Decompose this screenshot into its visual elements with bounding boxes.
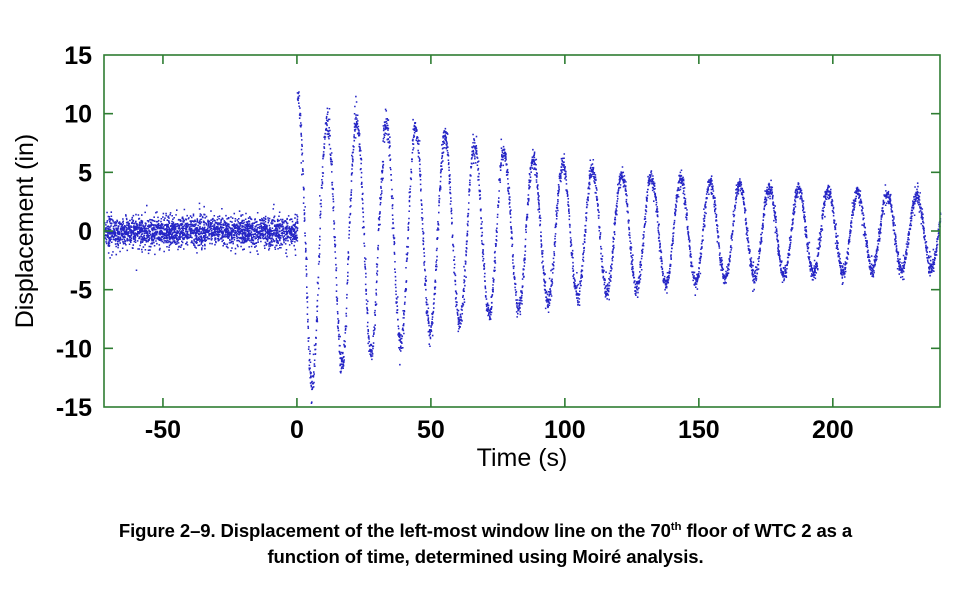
y-tick-label: 10 <box>64 101 92 129</box>
y-tick-label: -10 <box>56 335 92 363</box>
y-axis-title: Displacement (in) <box>11 134 39 329</box>
x-tick-label: 50 <box>417 416 445 444</box>
x-tick-label: 200 <box>812 416 854 444</box>
x-tick-label: 150 <box>678 416 720 444</box>
plot-background <box>104 55 940 407</box>
caption-line-2: function of time, determined using Moiré… <box>40 544 931 570</box>
y-tick-label: -15 <box>56 394 92 422</box>
caption-superscript: th <box>671 521 682 533</box>
chart-plot: -50050100150200 151050-5-10-15 Time (s) … <box>0 0 971 500</box>
y-axis-tick-labels: 151050-5-10-15 <box>56 42 92 422</box>
x-axis-tick-labels: -50050100150200 <box>145 416 854 444</box>
y-tick-label: 15 <box>64 42 92 70</box>
caption-line-1-pre: Figure 2–9. Displacement of the left-mos… <box>119 520 671 541</box>
figure-caption: Figure 2–9. Displacement of the left-mos… <box>40 518 931 570</box>
figure-container: -50050100150200 151050-5-10-15 Time (s) … <box>0 0 971 595</box>
y-tick-label: 0 <box>78 218 92 246</box>
y-tick-label: -5 <box>70 277 92 305</box>
x-tick-label: -50 <box>145 416 181 444</box>
caption-line-1: Figure 2–9. Displacement of the left-mos… <box>40 518 931 544</box>
displacement-vs-time-scatter-plot: -50050100150200 151050-5-10-15 Time (s) … <box>0 0 971 500</box>
x-tick-label: 100 <box>544 416 586 444</box>
x-axis-title: Time (s) <box>477 444 568 472</box>
x-tick-label: 0 <box>290 416 304 444</box>
caption-line-1-post: floor of WTC 2 as a <box>681 520 852 541</box>
y-tick-label: 5 <box>78 159 92 187</box>
